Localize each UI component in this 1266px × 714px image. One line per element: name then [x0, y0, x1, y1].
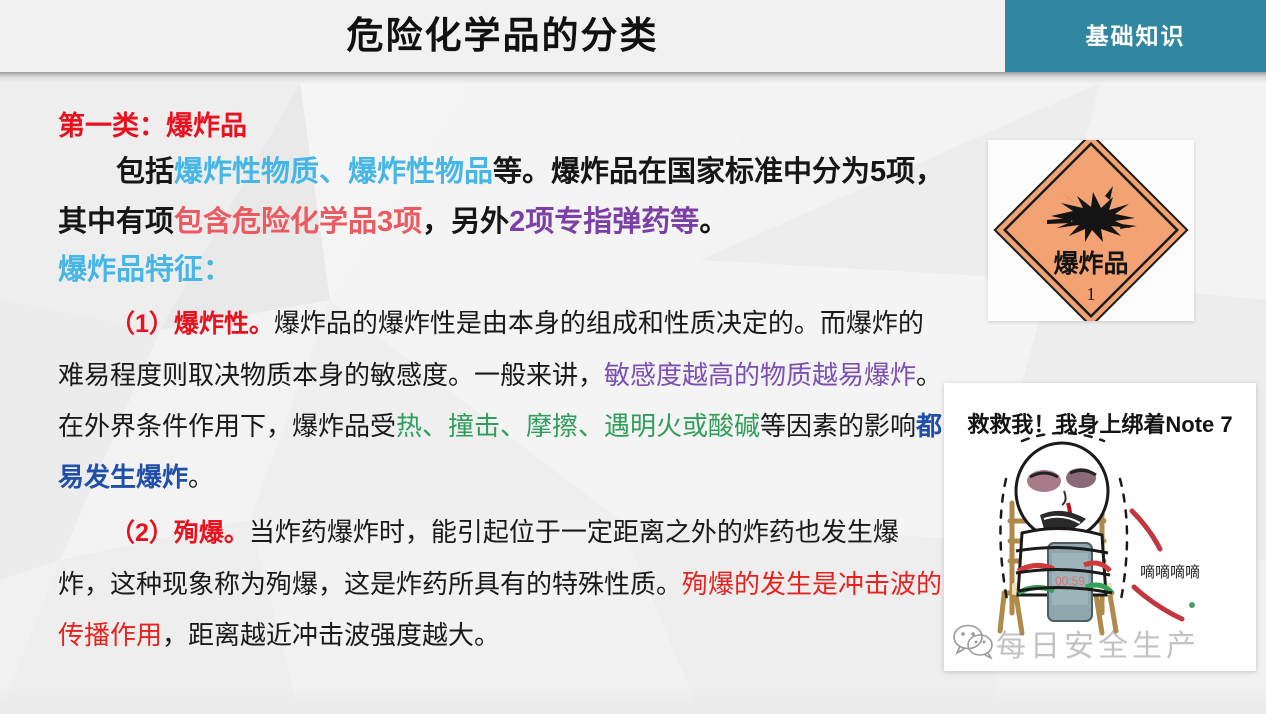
intro-seg7-highlight: 2项专指弹药等	[509, 206, 699, 238]
trait-one-seg5-highlight: 热、撞击、摩擦、遇明火或酸碱	[396, 412, 760, 441]
placard-class-number: 1	[1087, 284, 1096, 304]
explosive-placard-svg: 爆炸品 1	[988, 140, 1194, 321]
page-title: 危险化学品的分类	[0, 0, 1005, 72]
header-divider-shadow	[0, 72, 1266, 83]
heading-category-one: 第一类：爆炸品	[58, 105, 948, 147]
paragraph-intro: 包括爆炸性物质、爆炸性物品等。爆炸品在国家标准中分为5项，其中有项包含危险化学品…	[58, 147, 948, 247]
text-column: 第一类：爆炸品 包括爆炸性物质、爆炸性物品等。爆炸品在国家标准中分为5项，其中有…	[58, 105, 948, 661]
section-badge: 基础知识	[1005, 0, 1266, 72]
meme-image: 00:59	[944, 383, 1256, 671]
trait-two-marker: （2）殉爆。	[110, 519, 249, 547]
trait-one-marker: （1）爆炸性。	[110, 310, 274, 338]
wechat-icon	[952, 623, 996, 659]
meme-beep-text: 嘀嘀嘀嘀	[1140, 561, 1200, 582]
intro-seg1: 包括	[116, 156, 174, 188]
slide-header-bar: 危险化学品的分类 基础知识	[0, 0, 1266, 72]
intro-seg2-highlight: 爆炸性物质、爆炸性物品	[174, 156, 493, 188]
trait-one-seg3-highlight: 敏感度越高的物质越易爆炸	[604, 361, 916, 390]
phone-timer: 00:59	[1055, 574, 1085, 588]
heading-explosive-traits-label: 爆炸品特征：	[58, 254, 232, 286]
paragraph-trait-one: （1）爆炸性。爆炸品的爆炸性是由本身的组成和性质决定的。而爆炸的难易程度则取决物…	[58, 298, 948, 503]
placard-label: 爆炸品	[1053, 250, 1128, 278]
slide-canvas: 危险化学品的分类 基础知识 第一类：爆炸品 包括爆炸性物质、爆炸性物品等。爆炸品…	[0, 0, 1266, 714]
intro-seg5-highlight: 包含危险化学品3项	[174, 206, 422, 238]
trait-one-seg6: 等因素的影响	[760, 412, 916, 441]
intro-seg8: 。	[699, 206, 728, 238]
slide-content: 第一类：爆炸品 包括爆炸性物质、爆炸性物品等。爆炸品在国家标准中分为5项，其中有…	[0, 83, 1266, 714]
paragraph-trait-two: （2）殉爆。当炸药爆炸时，能引起位于一定距离之外的炸药也发生爆炸，这种现象称为殉…	[58, 507, 948, 661]
meme-watermark-text: 每日安全生产	[996, 621, 1200, 665]
meme-title-text: 救救我！我身上绑着Note 7	[944, 407, 1256, 439]
trait-one-seg8: 。	[188, 463, 214, 492]
heading-category-one-label: 第一类：爆炸品	[58, 111, 247, 141]
intro-seg3: 等。爆炸品在国家标准中分	[493, 156, 841, 188]
trait-two-seg3: ，距离越近冲击波强度越大。	[162, 621, 500, 650]
intro-seg6: ，另外	[422, 206, 509, 238]
heading-explosive-traits: 爆炸品特征：	[58, 247, 948, 294]
explosive-placard-image: 爆炸品 1	[988, 140, 1194, 321]
trait-one-seg1: 爆炸品的爆炸性是由本身的组成和性质决定的。而爆炸	[274, 309, 898, 338]
